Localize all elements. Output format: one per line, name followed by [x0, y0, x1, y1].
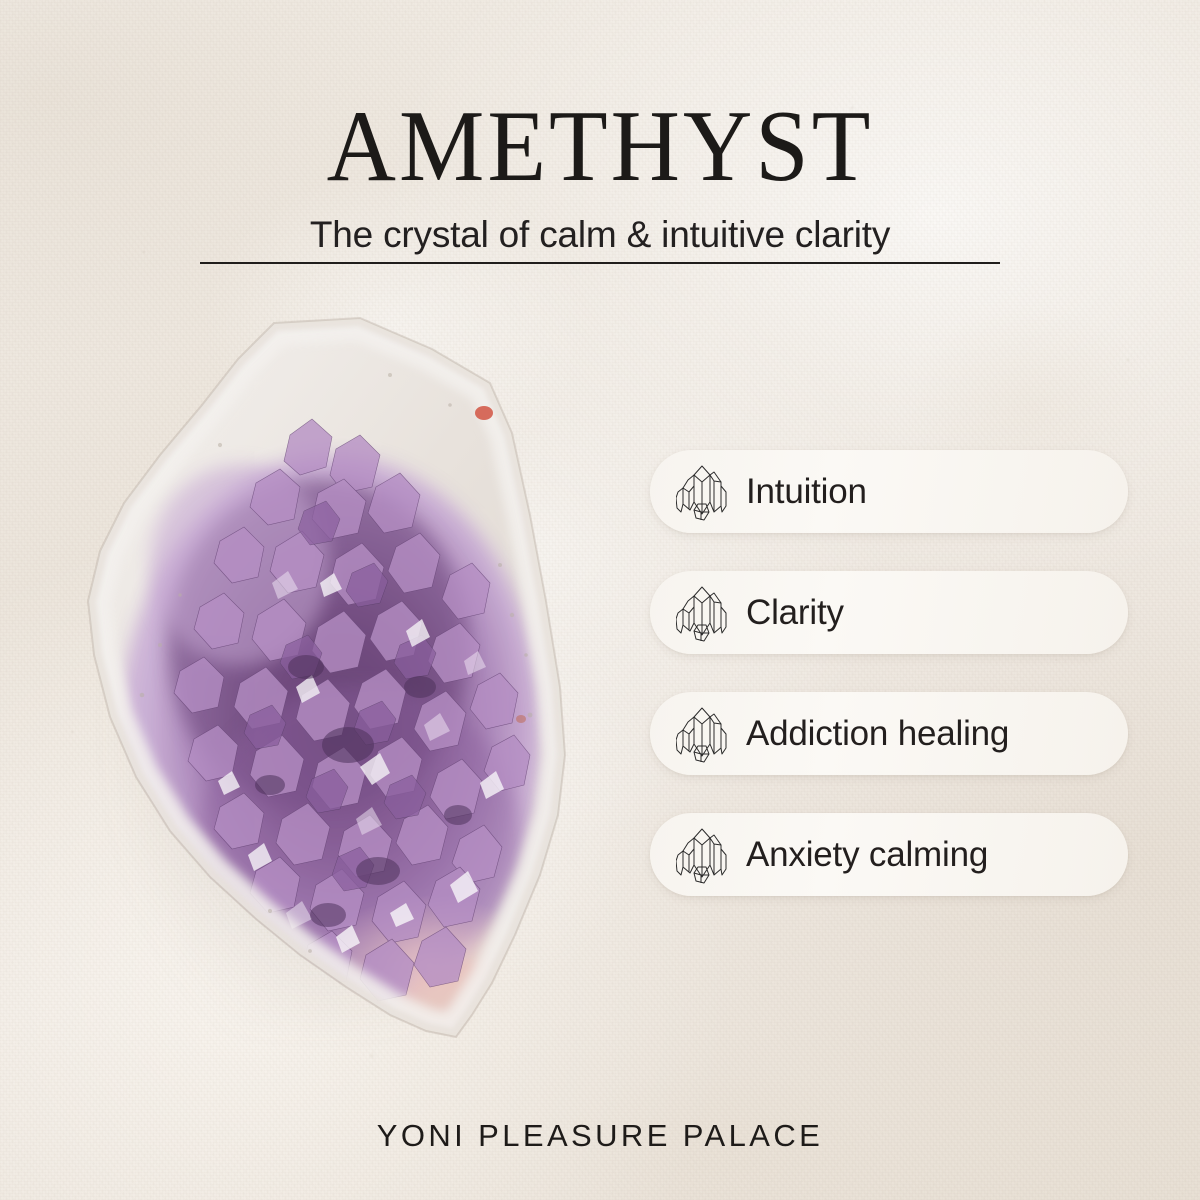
- crystal-cluster-icon: [674, 824, 730, 886]
- list-item[interactable]: Anxiety calming: [650, 813, 1128, 896]
- hero-image: [60, 315, 600, 1045]
- crystal-cluster-icon: [674, 703, 730, 765]
- benefit-label: Intuition: [746, 474, 867, 509]
- brand-name: YONI PLEASURE PALACE: [0, 1118, 1200, 1154]
- amethyst-crystal-cluster-photo: [60, 315, 600, 1045]
- list-item[interactable]: Clarity: [650, 571, 1128, 654]
- benefit-label: Addiction healing: [746, 716, 1009, 751]
- header: AMETHYST The crystal of calm & intuitive…: [0, 0, 1200, 253]
- crystal-cluster-icon: [674, 582, 730, 644]
- benefits-list: Intuition Clarity: [650, 450, 1130, 896]
- footer: YONI PLEASURE PALACE: [0, 1118, 1200, 1154]
- benefit-label: Anxiety calming: [746, 837, 988, 872]
- list-item[interactable]: Addiction healing: [650, 692, 1128, 775]
- list-item[interactable]: Intuition: [650, 450, 1128, 533]
- benefit-label: Clarity: [746, 595, 844, 630]
- poster-canvas: AMETHYST The crystal of calm & intuitive…: [0, 0, 1200, 1200]
- page-title: AMETHYST: [0, 0, 1200, 197]
- header-divider: [200, 262, 1000, 264]
- crystal-cluster-icon: [674, 461, 730, 523]
